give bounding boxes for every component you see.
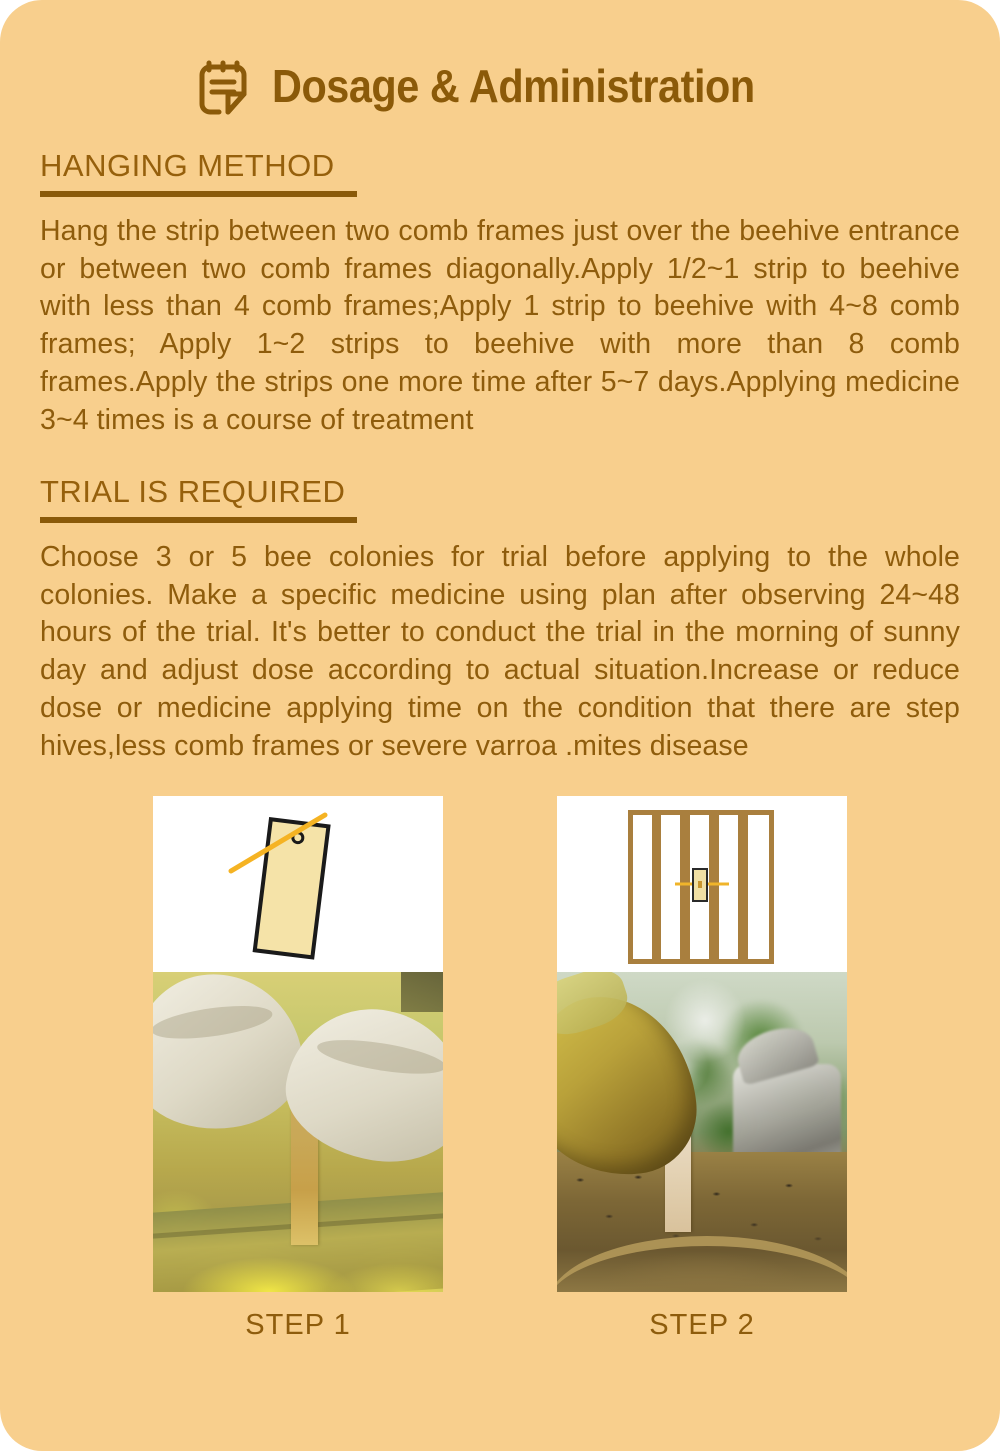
page-title: Dosage & Administration	[272, 63, 755, 109]
card-header: Dosage & Administration	[0, 0, 1000, 130]
hive-box-rim	[557, 1236, 847, 1292]
gloved-hands-inserting-strip-photo	[153, 972, 443, 1292]
steps-row: STEP 1	[40, 796, 960, 1342]
card-content: HANGING METHOD Hang the strip between tw…	[0, 130, 1000, 1342]
section-body: Choose 3 or 5 bee colonies for trial bef…	[40, 539, 960, 766]
section-heading: TRIAL IS REQUIRED	[40, 474, 357, 523]
step-label: STEP 2	[557, 1309, 847, 1342]
step-1: STEP 1	[153, 796, 443, 1342]
section-gap	[40, 444, 960, 474]
section-hanging-method: HANGING METHOD Hang the strip between tw…	[40, 148, 960, 440]
dosage-administration-card: Dosage & Administration HANGING METHOD H…	[0, 0, 1000, 1451]
beehive-frames-with-strip-illustration	[557, 796, 847, 972]
bees-on-frames	[557, 1152, 847, 1292]
foreground-bokeh	[153, 1234, 443, 1292]
left-gloved-hand	[153, 972, 311, 1140]
section-heading: HANGING METHOD	[40, 148, 357, 197]
step-label: STEP 1	[153, 1309, 443, 1342]
section-body: Hang the strip between two comb frames j…	[40, 213, 960, 440]
background-shade	[401, 972, 443, 1012]
strip-with-pin-illustration	[153, 796, 443, 972]
section-trial-is-required: TRIAL IS REQUIRED Choose 3 or 5 bee colo…	[40, 474, 960, 766]
step-2: STEP 2	[557, 796, 847, 1342]
notepad-icon	[192, 54, 254, 120]
beekeeper-placing-strip-on-hive-photo	[557, 972, 847, 1292]
